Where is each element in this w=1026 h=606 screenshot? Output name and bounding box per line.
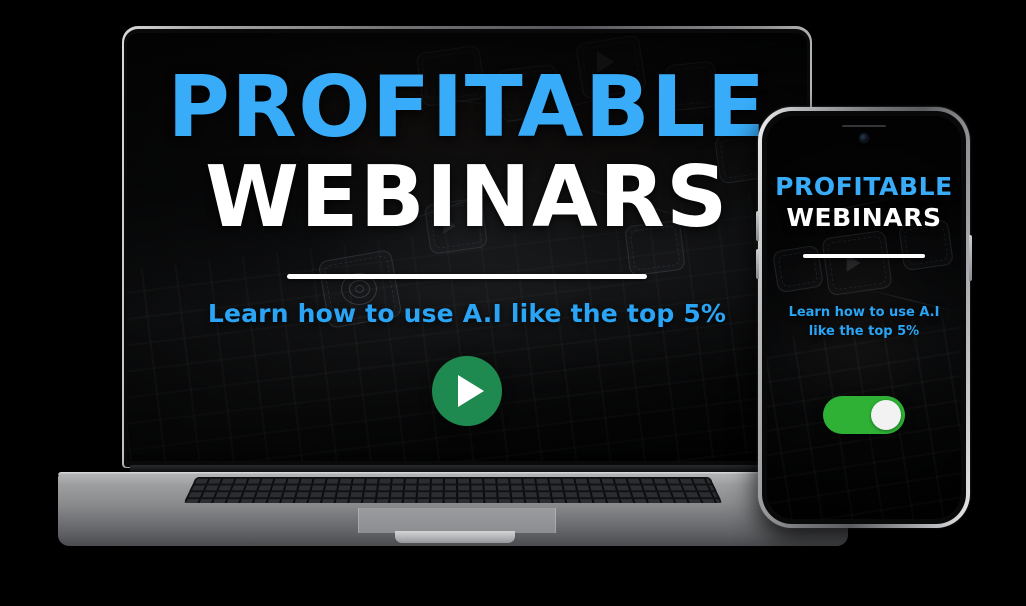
volume-down-button[interactable]	[756, 249, 759, 279]
screen-content: PROFITABLE WEBINARS Learn how to use A.I…	[127, 33, 807, 461]
laptop-screen: PROFITABLE WEBINARS Learn how to use A.I…	[127, 33, 807, 461]
base-top-edge	[58, 472, 848, 475]
phone-subtitle: Learn how to use A.I like the top 5%	[782, 304, 947, 342]
phone-device: PROFITABLE WEBINARS Learn how to use A.I…	[758, 107, 970, 528]
front-notch	[395, 531, 515, 543]
phone-bezel: PROFITABLE WEBINARS Learn how to use A.I…	[762, 111, 966, 524]
divider	[287, 274, 647, 279]
promo-mockup-stage: PROFITABLE WEBINARS Learn how to use A.I…	[0, 0, 1026, 606]
phone-subtitle-line-1: Learn how to use A.I	[789, 305, 940, 320]
subtitle: Learn how to use A.I like the top 5%	[208, 299, 726, 328]
headline-line-1: PROFITABLE	[168, 67, 767, 149]
phone-headline-line-1: PROFITABLE	[775, 174, 953, 199]
laptop-device: PROFITABLE WEBINARS Learn how to use A.I…	[58, 18, 848, 546]
key-row	[192, 485, 714, 490]
volume-up-button[interactable]	[756, 211, 759, 241]
phone-divider	[803, 254, 925, 258]
power-button[interactable]	[969, 235, 972, 281]
toggle-switch[interactable]	[823, 396, 905, 434]
laptop-lid: PROFITABLE WEBINARS Learn how to use A.I…	[122, 26, 812, 468]
key-row	[185, 499, 721, 503]
key-row	[195, 479, 711, 484]
toggle-knob	[871, 400, 901, 430]
headline-line-2: WEBINARS	[205, 157, 729, 239]
laptop-base	[58, 472, 848, 546]
keyboard[interactable]	[184, 477, 723, 503]
trackpad[interactable]	[358, 508, 556, 533]
phone-screen-content: PROFITABLE WEBINARS Learn how to use A.I…	[767, 116, 961, 519]
key-row	[189, 492, 718, 497]
phone-subtitle-line-2: like the top 5%	[809, 324, 919, 339]
phone-headline-line-2: WEBINARS	[786, 205, 941, 230]
laptop-bezel: PROFITABLE WEBINARS Learn how to use A.I…	[124, 29, 810, 467]
phone-screen: PROFITABLE WEBINARS Learn how to use A.I…	[767, 116, 961, 519]
play-icon	[458, 375, 484, 407]
play-button[interactable]	[432, 356, 502, 426]
